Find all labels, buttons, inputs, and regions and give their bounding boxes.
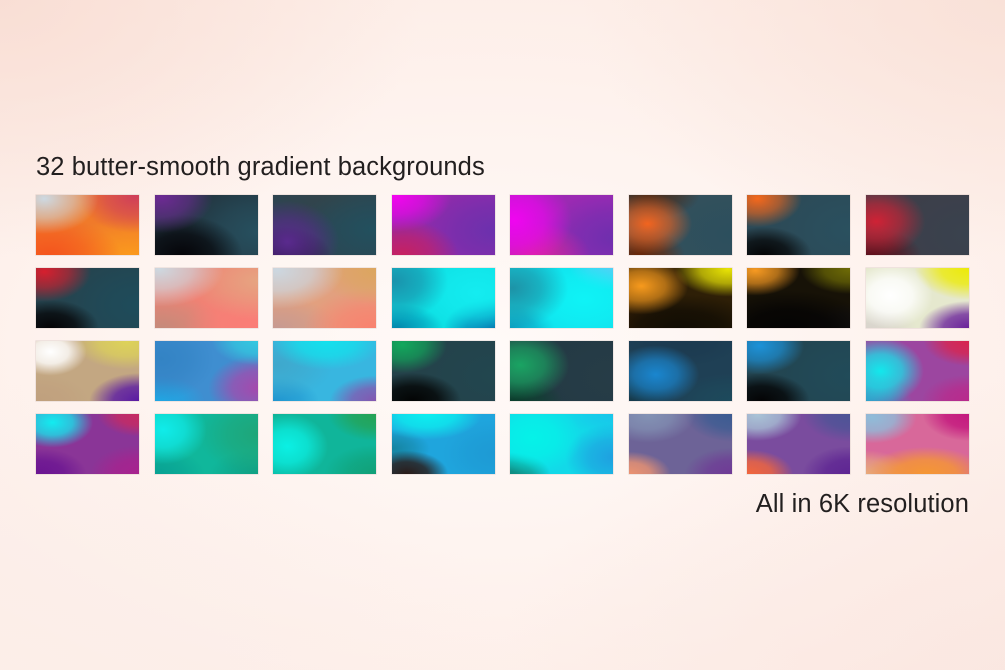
gradient-layer bbox=[510, 195, 613, 255]
gradient-swatch-31[interactable] bbox=[747, 414, 850, 474]
gradient-layer bbox=[155, 268, 258, 328]
gradient-swatch-26[interactable] bbox=[155, 414, 258, 474]
gradient-swatch-17[interactable] bbox=[36, 341, 139, 401]
gradient-layer bbox=[629, 195, 732, 255]
gradient-layer bbox=[36, 341, 139, 401]
gradient-swatch-10[interactable] bbox=[155, 268, 258, 328]
gradient-swatch-27[interactable] bbox=[273, 414, 376, 474]
page-title: 32 butter-smooth gradient backgrounds bbox=[36, 152, 485, 183]
gradient-layer bbox=[510, 341, 613, 401]
gradient-layer bbox=[629, 414, 732, 474]
resolution-caption: All in 6K resolution bbox=[756, 489, 969, 520]
gradient-swatch-11[interactable] bbox=[273, 268, 376, 328]
gradient-layer bbox=[866, 195, 969, 255]
gradient-layer bbox=[747, 195, 850, 255]
gradient-swatch-9[interactable] bbox=[36, 268, 139, 328]
gradient-swatch-8[interactable] bbox=[866, 195, 969, 255]
gradient-swatch-13[interactable] bbox=[510, 268, 613, 328]
gradient-swatch-23[interactable] bbox=[747, 341, 850, 401]
gradient-layer bbox=[273, 341, 376, 401]
gradient-layer bbox=[155, 195, 258, 255]
gradient-layer bbox=[629, 268, 732, 328]
gradient-layer bbox=[273, 195, 376, 255]
gradient-swatch-30[interactable] bbox=[629, 414, 732, 474]
gradient-swatch-28[interactable] bbox=[392, 414, 495, 474]
gradient-layer bbox=[747, 341, 850, 401]
gradient-swatch-2[interactable] bbox=[155, 195, 258, 255]
gradient-swatch-1[interactable] bbox=[36, 195, 139, 255]
gradient-layer bbox=[392, 341, 495, 401]
gradient-layer bbox=[155, 414, 258, 474]
gradient-layer bbox=[510, 268, 613, 328]
gradient-swatch-5[interactable] bbox=[510, 195, 613, 255]
gradient-layer bbox=[747, 414, 850, 474]
poster-canvas: 32 butter-smooth gradient backgrounds Al… bbox=[0, 0, 1005, 670]
gradient-layer bbox=[36, 414, 139, 474]
gradient-swatch-22[interactable] bbox=[629, 341, 732, 401]
gradient-swatch-32[interactable] bbox=[866, 414, 969, 474]
gradient-layer bbox=[392, 414, 495, 474]
gradient-swatch-grid bbox=[36, 195, 969, 474]
gradient-layer bbox=[155, 341, 258, 401]
gradient-swatch-7[interactable] bbox=[747, 195, 850, 255]
gradient-swatch-4[interactable] bbox=[392, 195, 495, 255]
gradient-swatch-15[interactable] bbox=[747, 268, 850, 328]
gradient-layer bbox=[866, 268, 969, 328]
gradient-swatch-18[interactable] bbox=[155, 341, 258, 401]
gradient-layer bbox=[273, 414, 376, 474]
gradient-swatch-14[interactable] bbox=[629, 268, 732, 328]
gradient-swatch-29[interactable] bbox=[510, 414, 613, 474]
gradient-layer bbox=[866, 341, 969, 401]
gradient-swatch-25[interactable] bbox=[36, 414, 139, 474]
gradient-layer bbox=[273, 268, 376, 328]
gradient-layer bbox=[629, 341, 732, 401]
gradient-layer bbox=[36, 268, 139, 328]
gradient-swatch-21[interactable] bbox=[510, 341, 613, 401]
gradient-layer bbox=[392, 195, 495, 255]
gradient-swatch-20[interactable] bbox=[392, 341, 495, 401]
gradient-layer bbox=[747, 268, 850, 328]
gradient-layer bbox=[392, 268, 495, 328]
gradient-swatch-3[interactable] bbox=[273, 195, 376, 255]
gradient-swatch-24[interactable] bbox=[866, 341, 969, 401]
gradient-swatch-19[interactable] bbox=[273, 341, 376, 401]
gradient-layer bbox=[866, 414, 969, 474]
gradient-swatch-6[interactable] bbox=[629, 195, 732, 255]
gradient-swatch-16[interactable] bbox=[866, 268, 969, 328]
gradient-swatch-12[interactable] bbox=[392, 268, 495, 328]
gradient-layer bbox=[510, 414, 613, 474]
gradient-layer bbox=[36, 195, 139, 255]
